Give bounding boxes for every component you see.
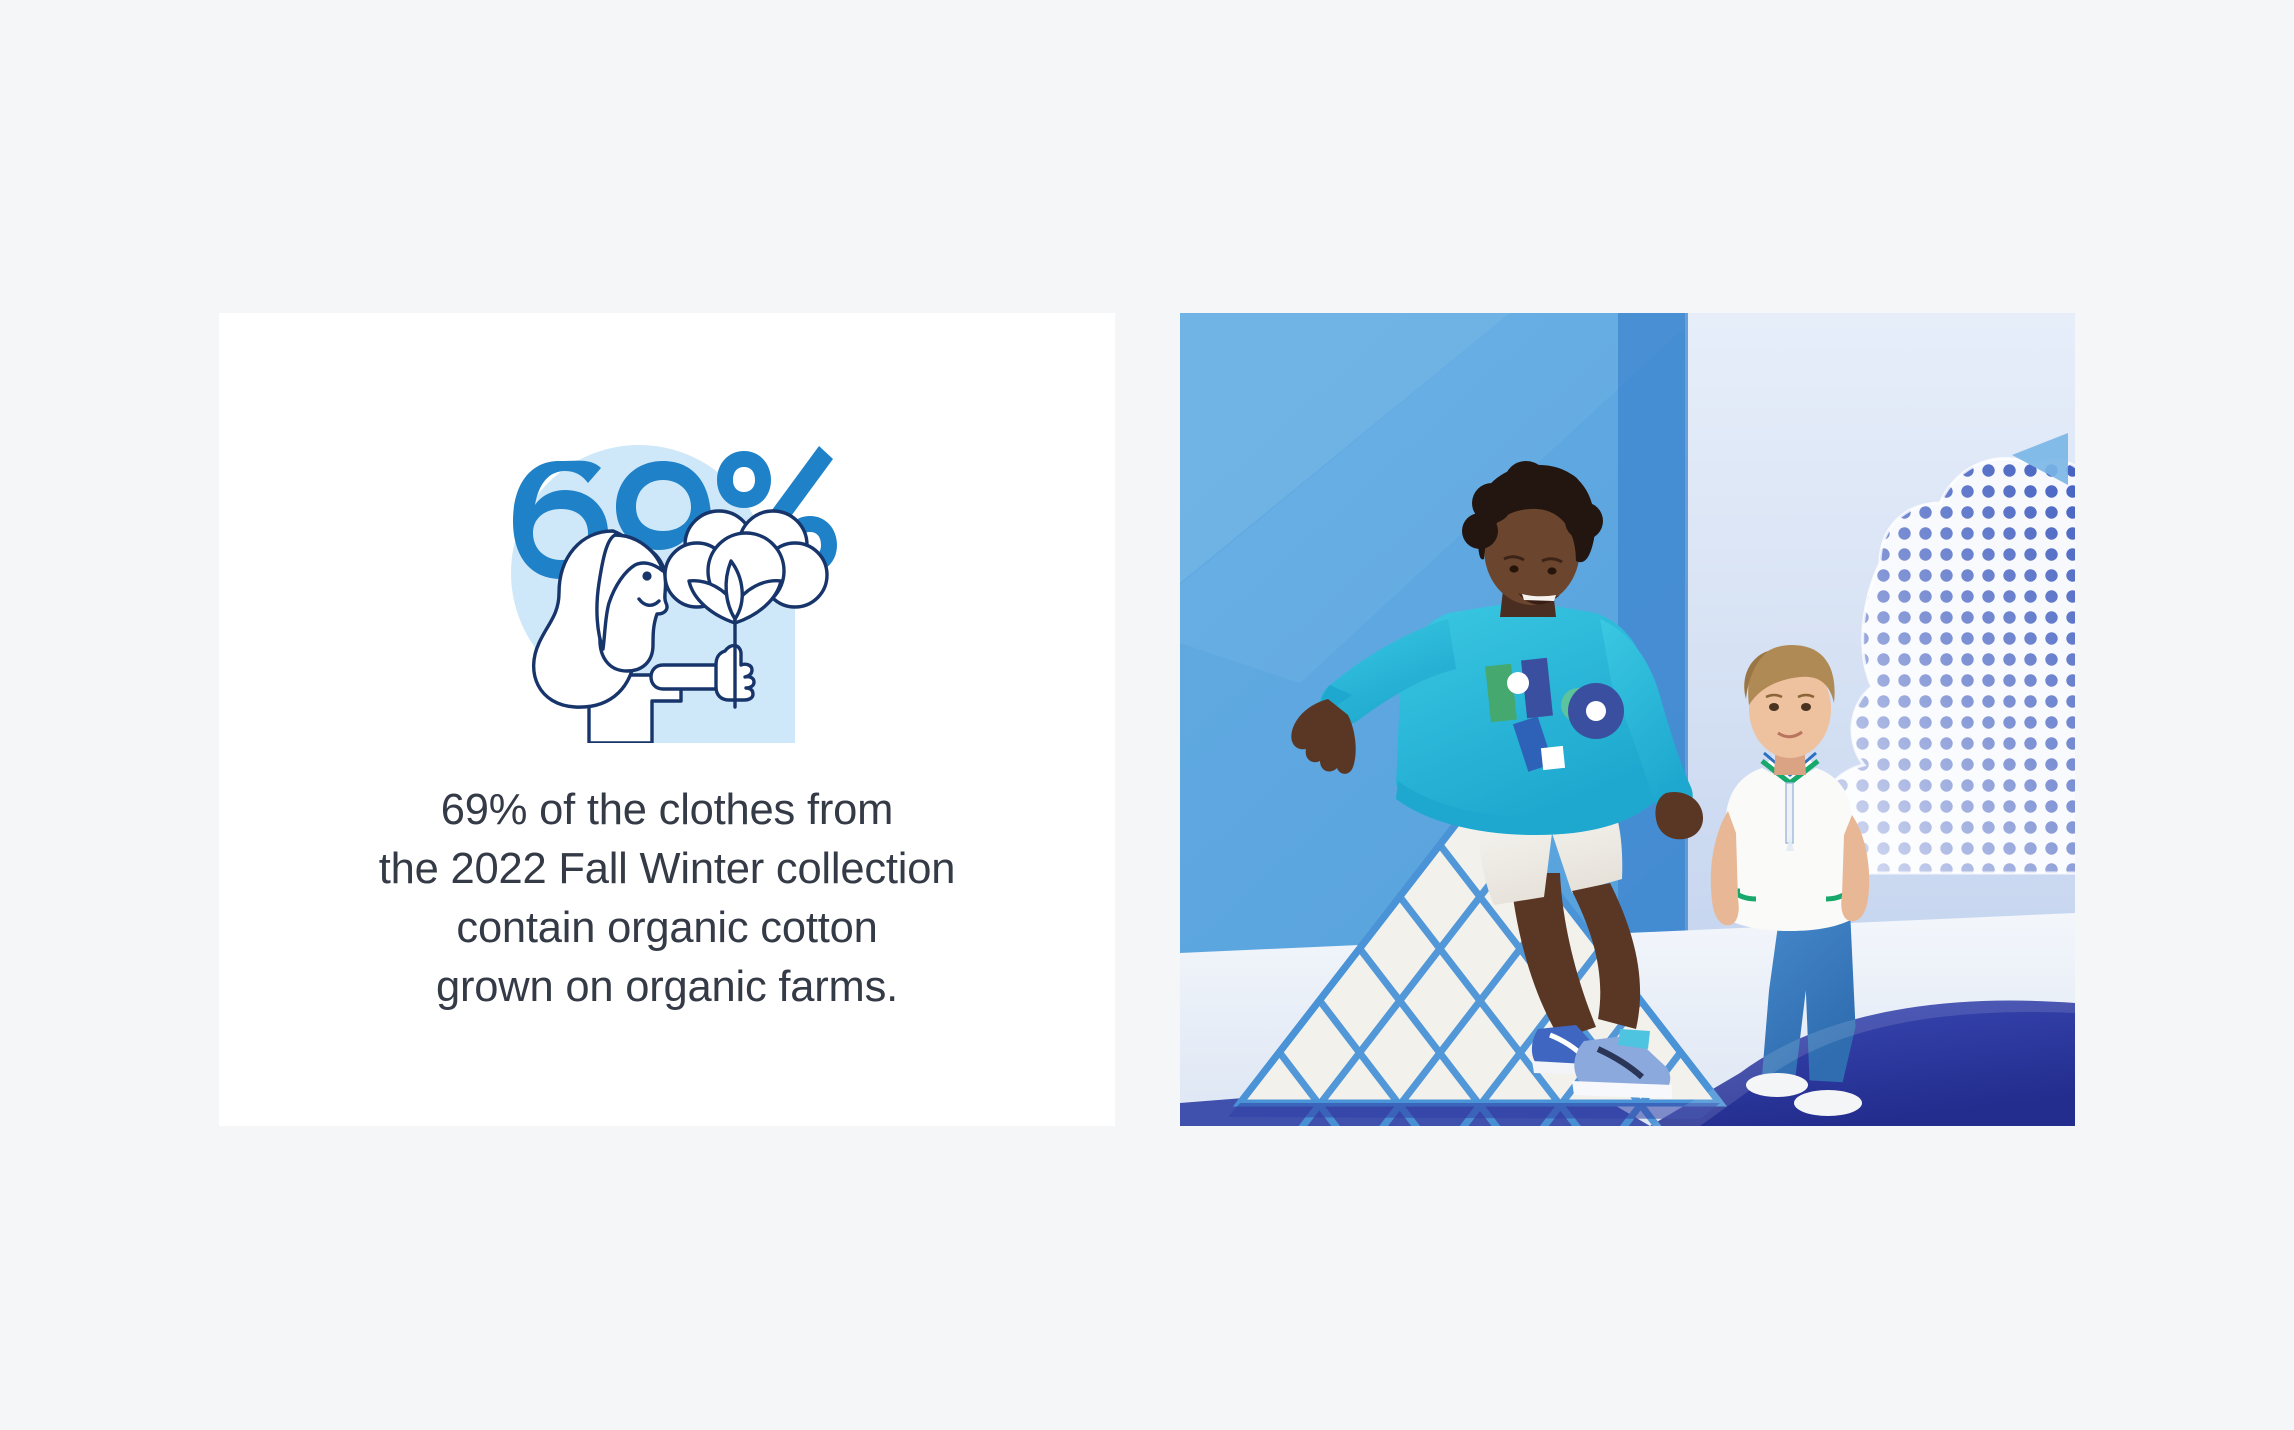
eye xyxy=(642,571,651,580)
caption-line: 69% of the clothes from xyxy=(287,781,1047,840)
statistic-card: 69% of the clothes from the 2022 Fall Wi… xyxy=(219,313,1115,1126)
statistic-caption: 69% of the clothes from the 2022 Fall Wi… xyxy=(287,781,1047,1017)
cotton-flower xyxy=(665,511,827,623)
caption-line: the 2022 Fall Winter collection xyxy=(287,840,1047,899)
girl-holding-cotton-flower-icon xyxy=(467,413,867,743)
shoe xyxy=(1794,1090,1862,1116)
campaign-photo xyxy=(1180,313,2075,1126)
caption-line: grown on organic farms. xyxy=(287,958,1047,1017)
page-root: 69% of the clothes from the 2022 Fall Wi… xyxy=(0,0,2294,1430)
caption-line: contain organic cotton xyxy=(287,899,1047,958)
